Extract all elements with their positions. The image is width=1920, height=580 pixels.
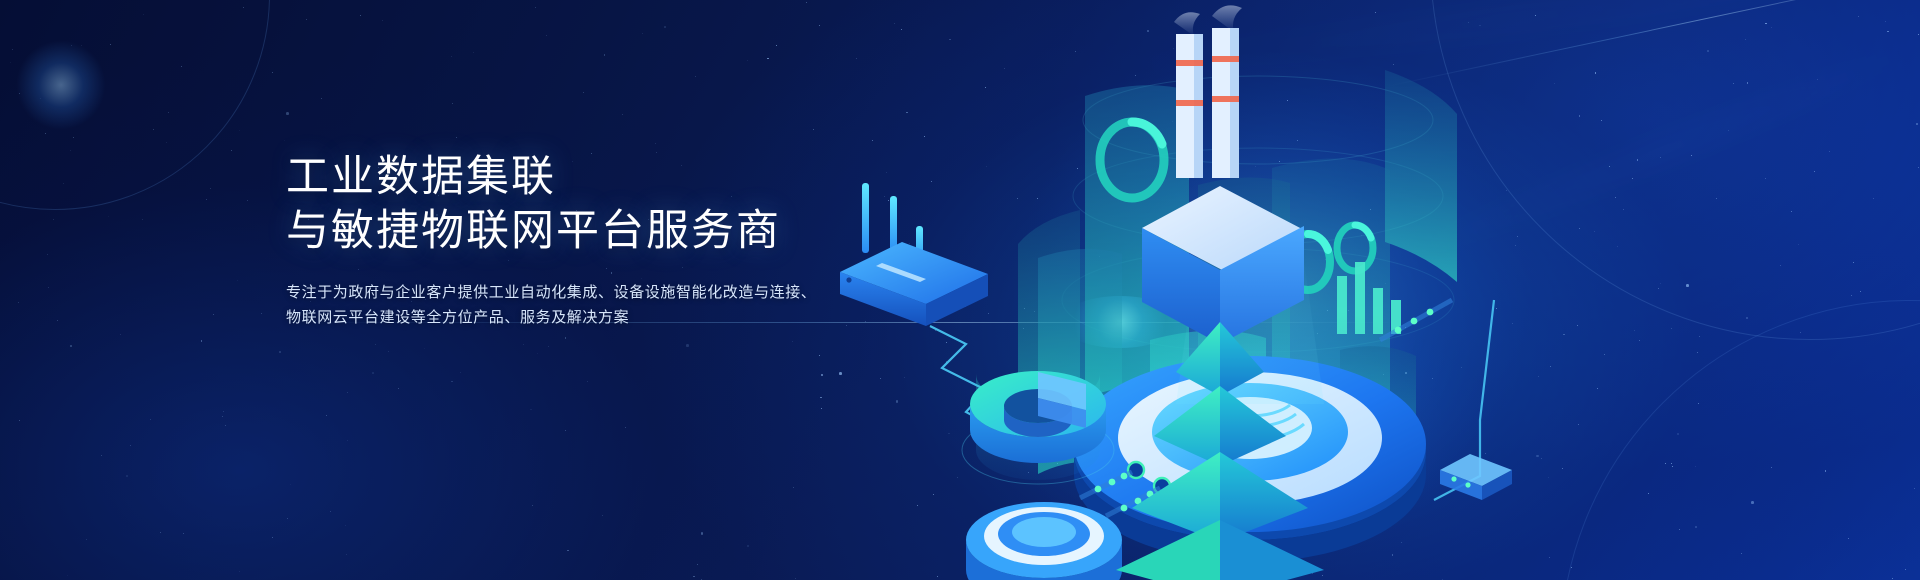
- hero-banner: 工业数据集联 与敏捷物联网平台服务商 专注于为政府与企业客户提供工业自动化集成、…: [0, 0, 1920, 580]
- headline-line-1: 工业数据集联: [286, 150, 906, 204]
- subtitle-line-1: 专注于为政府与企业客户提供工业自动化集成、设备设施智能化改造与连接、: [286, 280, 906, 305]
- smokestack-right: [1212, 28, 1230, 178]
- iot-illustration: [780, 0, 1920, 580]
- glow-accent-left: [16, 40, 106, 130]
- decorative-arc-topleft: [0, 0, 270, 210]
- hero-copy: 工业数据集联 与敏捷物联网平台服务商 专注于为政府与企业客户提供工业自动化集成、…: [286, 150, 906, 330]
- sensor-disc-center: [1012, 517, 1076, 547]
- headline-line-2: 与敏捷物联网平台服务商: [286, 204, 906, 258]
- subtitle-line-2: 物联网云平台建设等全方位产品、服务及解决方案: [286, 305, 906, 330]
- sensor-disc: [966, 502, 1122, 580]
